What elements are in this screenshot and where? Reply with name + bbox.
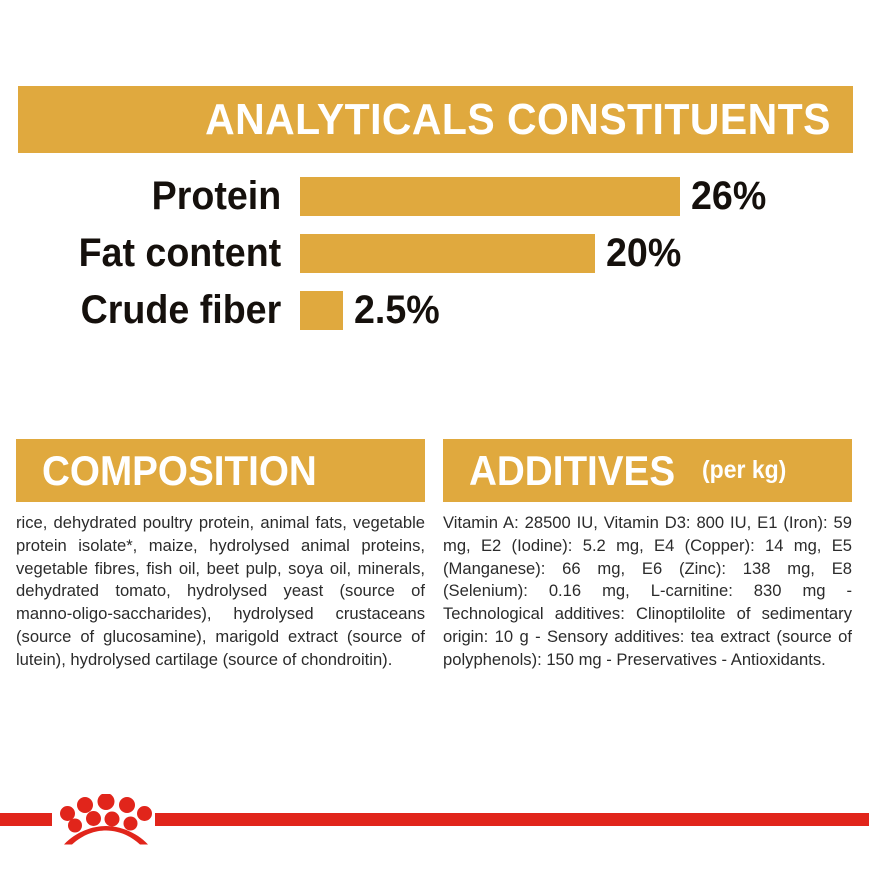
additives-header-title: ADDITIVES — [469, 450, 675, 492]
info-panels: COMPOSITION rice, dehydrated poultry pro… — [16, 439, 853, 672]
bar-value-fat-content: 20% — [606, 233, 681, 273]
bar-value-crude-fiber: 2.5% — [354, 290, 440, 330]
composition-panel: COMPOSITION rice, dehydrated poultry pro… — [16, 439, 425, 672]
footer-rule-right — [155, 813, 869, 826]
additives-header: ADDITIVES (per kg) — [443, 439, 852, 502]
banner-title: ANALYTICALS CONSTITUENTS — [205, 98, 831, 142]
footer-rule-left — [0, 813, 52, 826]
bar-label-crude-fiber: Crude fiber — [18, 290, 300, 330]
additives-text: Vitamin A: 28500 IU, Vitamin D3: 800 IU,… — [443, 512, 852, 672]
chart-row-crude-fiber: Crude fiber 2.5% — [0, 282, 869, 338]
analyticals-bar-chart: Protein 26% Fat content 20% Crude fiber … — [0, 168, 869, 343]
additives-header-subtitle: (per kg) — [702, 458, 786, 483]
bar-label-protein: Protein — [18, 176, 300, 216]
bar-track-fat-content: 20% — [300, 225, 869, 281]
royal-canin-crown-icon — [60, 794, 152, 847]
bar-fill-protein — [300, 177, 680, 216]
chart-row-protein: Protein 26% — [0, 168, 869, 224]
composition-header-title: COMPOSITION — [42, 450, 317, 492]
bar-value-protein: 26% — [691, 176, 766, 216]
product-info-panel: ANALYTICALS CONSTITUENTS Protein 26% Fat… — [0, 0, 869, 869]
bar-track-protein: 26% — [300, 168, 869, 224]
chart-row-fat-content: Fat content 20% — [0, 225, 869, 281]
composition-text: rice, dehydrated poultry protein, animal… — [16, 512, 425, 672]
analyticals-constituents-banner: ANALYTICALS CONSTITUENTS — [18, 86, 853, 153]
bar-track-crude-fiber: 2.5% — [300, 282, 869, 338]
bar-fill-fat-content — [300, 234, 595, 273]
bar-fill-crude-fiber — [300, 291, 343, 330]
additives-panel: ADDITIVES (per kg) Vitamin A: 28500 IU, … — [443, 439, 852, 672]
bar-label-fat-content: Fat content — [18, 233, 300, 273]
composition-header: COMPOSITION — [16, 439, 425, 502]
